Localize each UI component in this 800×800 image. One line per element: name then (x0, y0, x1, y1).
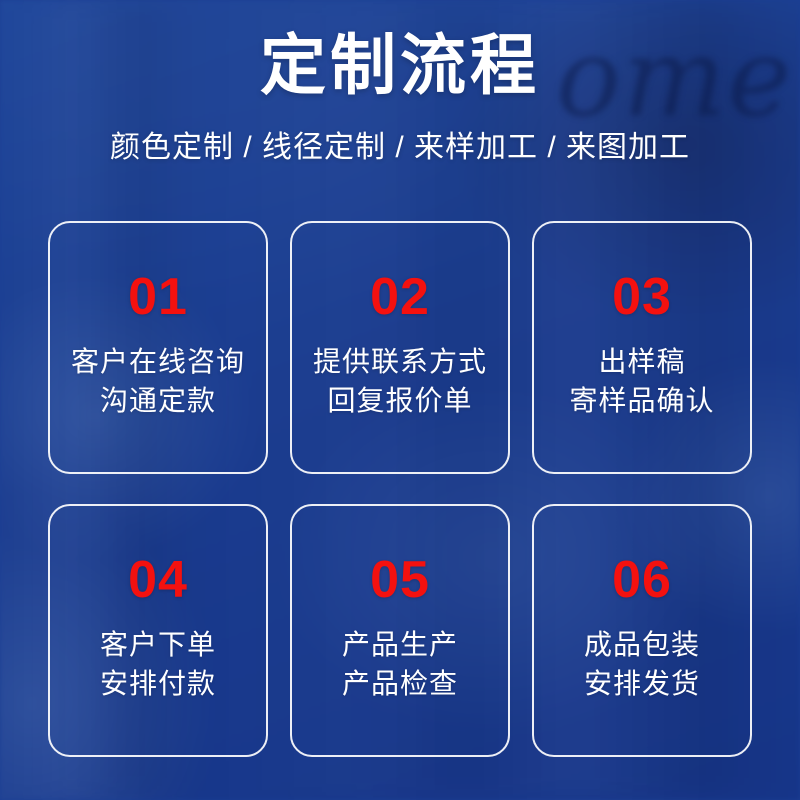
step-number: 06 (612, 554, 672, 606)
step-number: 02 (370, 271, 430, 323)
step-text: 成品包装 安排发货 (584, 626, 700, 703)
banner-header: 定制流程 颜色定制 / 线径定制 / 来样加工 / 来图加工 (0, 0, 800, 166)
step-line-2: 安排付款 (100, 665, 216, 704)
step-line-1: 出样稿 (569, 343, 714, 382)
step-text: 客户下单 安排付款 (100, 626, 216, 703)
step-card-03[interactable]: 03 出样稿 寄样品确认 (532, 221, 752, 474)
step-line-2: 安排发货 (584, 665, 700, 704)
step-text: 出样稿 寄样品确认 (569, 343, 714, 420)
step-line-2: 回复报价单 (313, 382, 487, 421)
page-title: 定制流程 (0, 31, 800, 100)
step-line-1: 产品生产 (342, 626, 458, 665)
step-number: 03 (612, 271, 672, 323)
step-line-2: 寄样品确认 (569, 382, 714, 421)
step-line-1: 客户下单 (100, 626, 216, 665)
step-card-01[interactable]: 01 客户在线咨询 沟通定款 (48, 221, 268, 474)
promo-banner: ome 定制流程 颜色定制 / 线径定制 / 来样加工 / 来图加工 01 客户… (0, 0, 800, 800)
process-steps-grid: 01 客户在线咨询 沟通定款 02 提供联系方式 回复报价单 03 出样稿 寄样… (48, 221, 752, 757)
step-card-02[interactable]: 02 提供联系方式 回复报价单 (290, 221, 510, 474)
step-line-1: 客户在线咨询 (71, 343, 245, 382)
step-line-2: 沟通定款 (71, 382, 245, 421)
step-text: 客户在线咨询 沟通定款 (71, 343, 245, 420)
step-card-05[interactable]: 05 产品生产 产品检查 (290, 504, 510, 757)
step-text: 提供联系方式 回复报价单 (313, 343, 487, 420)
step-line-2: 产品检查 (342, 665, 458, 704)
step-line-1: 成品包装 (584, 626, 700, 665)
step-line-1: 提供联系方式 (313, 343, 487, 382)
step-card-06[interactable]: 06 成品包装 安排发货 (532, 504, 752, 757)
step-text: 产品生产 产品检查 (342, 626, 458, 703)
step-card-04[interactable]: 04 客户下单 安排付款 (48, 504, 268, 757)
step-number: 01 (128, 271, 188, 323)
step-number: 04 (128, 554, 188, 606)
page-subtitle: 颜色定制 / 线径定制 / 来样加工 / 来图加工 (0, 122, 800, 166)
step-number: 05 (370, 554, 430, 606)
